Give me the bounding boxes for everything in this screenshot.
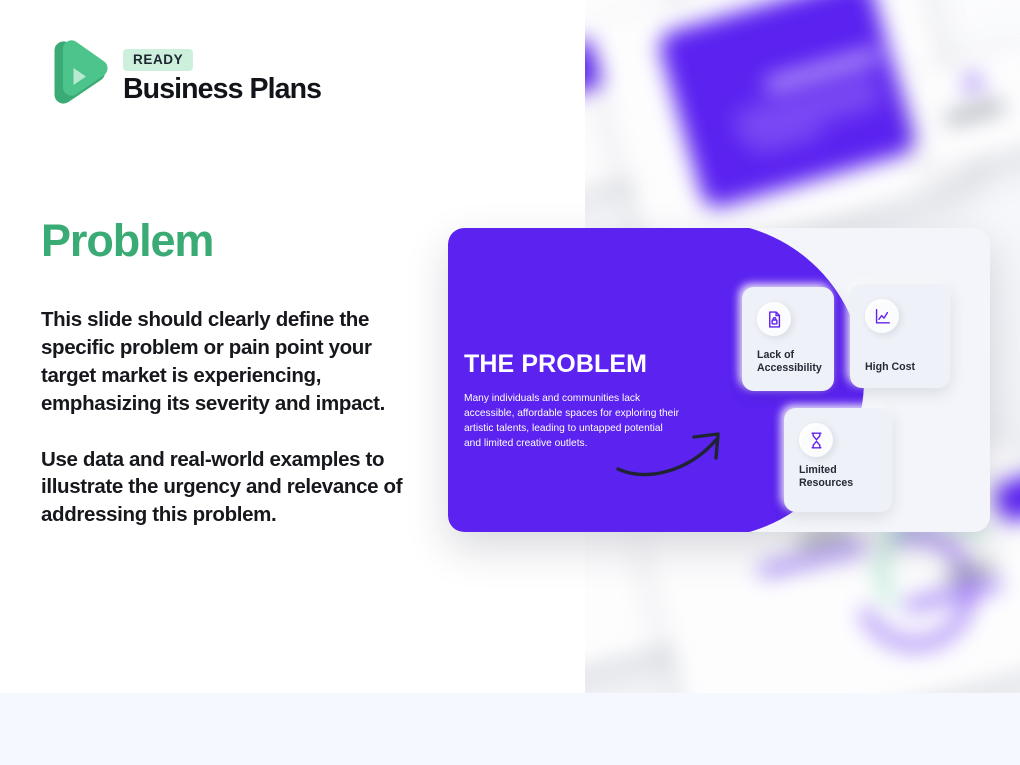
brand-logo-lockup: READY Business Plans — [41, 38, 321, 116]
slide-heading: THE PROBLEM — [464, 350, 647, 379]
brand-text-block: READY Business Plans — [123, 49, 321, 105]
document-lock-icon — [757, 302, 791, 336]
feature-card-limited-resources[interactable]: Limited Resources — [784, 408, 892, 512]
bottom-accent-band — [0, 693, 1020, 765]
hourglass-icon — [799, 423, 833, 457]
curved-arrow-icon — [616, 420, 736, 482]
page-title: Problem — [41, 218, 213, 263]
feature-card-lack-of-accessibility[interactable]: Lack of Accessibility — [742, 287, 834, 391]
description-paragraph-1: This slide should clearly define the spe… — [41, 306, 423, 418]
feature-card-label: High Cost — [865, 361, 949, 374]
feature-card-label: Limited Resources — [799, 464, 883, 491]
feature-card-label: Lack of Accessibility — [757, 349, 841, 376]
ready-badge: READY — [123, 49, 193, 71]
slide-template-preview-page: READY Business Plans Problem This slide … — [0, 0, 1020, 765]
description-block: This slide should clearly define the spe… — [41, 306, 423, 529]
line-chart-icon — [865, 299, 899, 333]
play-triangle-logo-icon — [41, 38, 108, 116]
brand-name: Business Plans — [123, 74, 321, 105]
description-paragraph-2: Use data and real-world examples to illu… — [41, 446, 423, 530]
slide-preview-card[interactable]: THE PROBLEM Many individuals and communi… — [448, 228, 990, 532]
feature-card-high-cost[interactable]: High Cost — [850, 284, 950, 388]
